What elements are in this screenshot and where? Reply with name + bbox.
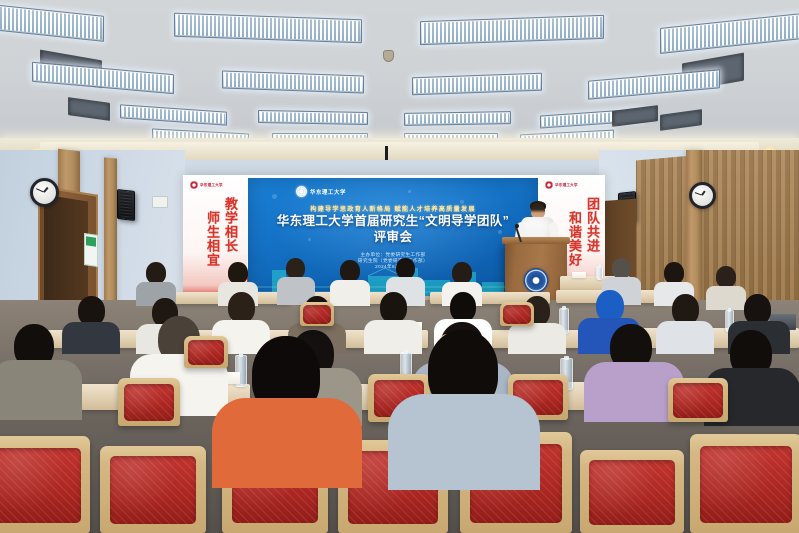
university-seal-icon	[524, 268, 549, 293]
university-seal-icon	[545, 181, 553, 189]
wall-control-plate	[152, 196, 168, 208]
audience-head	[396, 258, 415, 279]
ceiling-light	[660, 12, 799, 54]
screen-title-line2: 评审会	[248, 230, 538, 245]
water-bottle	[596, 266, 603, 280]
screen-title-line1: 华东理工大学首届研究生“文明导学团队”	[248, 214, 538, 229]
banner-right-logo: 华东理工大学	[545, 181, 578, 189]
audience-head	[340, 260, 360, 282]
ceiling-light	[404, 111, 511, 126]
audience-body-foreground	[388, 394, 540, 490]
audience-head	[286, 258, 305, 279]
ceiling-light	[588, 69, 720, 100]
ceiling-light	[222, 71, 364, 94]
ceiling-light	[0, 4, 104, 42]
ceiling	[0, 0, 799, 172]
audience-head	[228, 292, 255, 323]
clock-minute-hand	[695, 192, 702, 195]
audience-head	[612, 258, 631, 279]
ceiling-light	[32, 62, 174, 94]
wall-clock-right	[689, 182, 716, 209]
screen-logo-text: 华东理工大学	[310, 188, 346, 196]
clock-hour-hand	[43, 187, 48, 193]
screen-subtitle: 构建导学思政育人新格局 赋能人才培养高质量发展	[248, 204, 538, 213]
podium-top-surface	[502, 237, 570, 244]
audience-head	[664, 262, 684, 284]
wall-speaker-left	[117, 189, 135, 221]
decorative-bokeh	[408, 190, 411, 193]
audience-body-foreground	[212, 398, 362, 488]
audience-body	[706, 286, 746, 310]
banner-right-logo-text: 华东理工大学	[555, 183, 578, 188]
chair[interactable]	[0, 436, 90, 533]
audience-body	[330, 280, 370, 306]
audience-head	[228, 262, 248, 284]
banner-left-logo-text: 华东理工大学	[200, 183, 223, 188]
chair[interactable]	[118, 378, 180, 426]
decorative-bokeh	[272, 194, 277, 199]
chair[interactable]	[100, 446, 206, 533]
ceiling-vent	[68, 97, 110, 121]
audience-head	[146, 262, 166, 284]
university-seal-icon	[296, 186, 307, 197]
microphone-head	[515, 224, 519, 228]
audience-body	[656, 321, 714, 354]
chair[interactable]	[690, 434, 799, 533]
audience-head	[450, 292, 476, 322]
screen-university-logo: 华东理工大学	[296, 186, 346, 197]
chair[interactable]	[500, 302, 534, 326]
chair[interactable]	[184, 336, 228, 368]
clock-minute-hand	[36, 188, 44, 192]
university-seal-icon	[190, 181, 198, 189]
audience-head	[380, 292, 407, 323]
ceiling-vent	[612, 105, 658, 127]
smoke-detector-icon	[383, 50, 394, 62]
exit-sign-icon	[84, 233, 98, 267]
banner-left-column-2: 师生相宜	[206, 211, 219, 267]
conference-hall-photo: 华东理工大学 教学相长 师生相宜 华东理工大学 团队共进 和谐美好 华东理工大学…	[0, 0, 799, 533]
banner-right-column-1: 团队共进	[586, 197, 599, 253]
ceiling-light	[420, 15, 604, 45]
audience-body	[364, 320, 422, 354]
audience-body	[62, 322, 120, 354]
stage-table-paper	[572, 272, 586, 278]
chair[interactable]	[300, 302, 334, 326]
ceiling-light	[120, 104, 227, 125]
ceiling-light	[258, 110, 368, 125]
audience-body	[508, 323, 566, 354]
ceiling-light	[412, 73, 542, 96]
ceiling-light	[174, 13, 362, 44]
banner-left-column-1: 教学相长	[224, 197, 237, 253]
audience-head	[716, 266, 736, 288]
audience-body	[0, 360, 82, 420]
chair[interactable]	[668, 378, 728, 422]
audience-head	[452, 262, 472, 284]
ceiling-vent	[660, 109, 702, 131]
clock-hour-hand	[701, 190, 705, 195]
wall-clock-left	[30, 178, 59, 207]
banner-left-logo: 华东理工大学	[190, 181, 223, 189]
chair[interactable]	[580, 450, 684, 533]
